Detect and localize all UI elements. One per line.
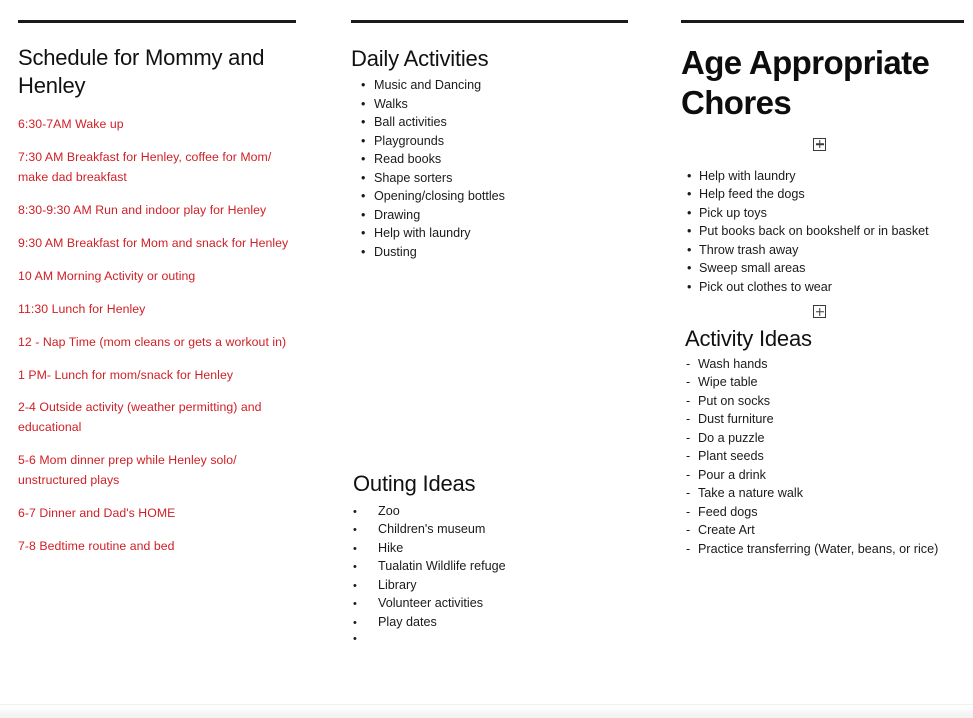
list-item-label: Drawing bbox=[374, 206, 648, 225]
list-item: -Put on socks bbox=[686, 392, 958, 411]
schedule-list: 6:30-7AM Wake up 7:30 AM Breakfast for H… bbox=[18, 115, 305, 557]
bullet-dot-icon: • bbox=[361, 76, 374, 95]
list-item-label: Plant seeds bbox=[698, 447, 958, 466]
list-item: •Help with laundry bbox=[687, 167, 958, 186]
list-item-label: Help feed the dogs bbox=[699, 185, 958, 204]
list-item-label: Ball activities bbox=[374, 113, 648, 132]
list-item-label: Wipe table bbox=[698, 373, 958, 392]
list-item-label: Pick out clothes to wear bbox=[699, 278, 958, 297]
list-item-label: Take a nature walk bbox=[698, 484, 958, 503]
list-item: •Help feed the dogs bbox=[687, 185, 958, 204]
list-item: •Hike bbox=[353, 539, 648, 558]
schedule-item: 9:30 AM Breakfast for Mom and snack for … bbox=[18, 234, 305, 254]
list-item: •Dusting bbox=[361, 243, 648, 262]
bullet-dash-icon: - bbox=[686, 466, 698, 485]
bullet-dot-icon: • bbox=[687, 259, 699, 278]
bullet-dot-icon: • bbox=[353, 615, 378, 631]
bullet-dot-icon: • bbox=[353, 541, 378, 557]
page-title-schedule: Schedule for Mommy and Henley bbox=[18, 44, 305, 100]
list-item: •Children's museum bbox=[353, 520, 648, 539]
bullet-dot-icon: • bbox=[353, 504, 378, 520]
bullet-dash-icon: - bbox=[686, 521, 698, 540]
three-column-layout: Schedule for Mommy and Henley 6:30-7AM W… bbox=[0, 0, 973, 704]
list-item: -Practice transferring (Water, beans, or… bbox=[686, 540, 958, 559]
schedule-item: 1 PM- Lunch for mom/snack for Henley bbox=[18, 366, 305, 386]
bullet-dash-icon: - bbox=[686, 429, 698, 448]
document-page: Schedule for Mommy and Henley 6:30-7AM W… bbox=[0, 0, 973, 718]
list-item: •Put books back on bookshelf or in baske… bbox=[687, 222, 958, 241]
list-item-label: Read books bbox=[374, 150, 648, 169]
bullet-dash-icon: - bbox=[686, 392, 698, 411]
section-title-activity-ideas: Activity Ideas bbox=[685, 325, 958, 353]
column-chores: Age Appropriate Chores •Help with laundr… bbox=[666, 0, 973, 704]
bullet-dot-icon: • bbox=[361, 169, 374, 188]
list-item-label: Shape sorters bbox=[374, 169, 648, 188]
list-item-label: Zoo bbox=[378, 502, 648, 521]
bullet-dot-icon: • bbox=[361, 150, 374, 169]
bullet-dash-icon: - bbox=[686, 484, 698, 503]
bullet-dot-icon: • bbox=[361, 113, 374, 132]
bullet-dot-icon: • bbox=[353, 522, 378, 538]
list-item: •Throw trash away bbox=[687, 241, 958, 260]
schedule-item: 8:30-9:30 AM Run and indoor play for Hen… bbox=[18, 201, 305, 221]
list-item-label: Wash hands bbox=[698, 355, 958, 374]
list-item: •Tualatin Wildlife refuge bbox=[353, 557, 648, 576]
list-item-label: Volunteer activities bbox=[378, 594, 648, 613]
outing-ideas-block: Outing Ideas •Zoo •Children's museum •Hi… bbox=[347, 470, 648, 647]
list-item-label: Put books back on bookshelf or in basket bbox=[699, 222, 958, 241]
schedule-item: 6-7 Dinner and Dad's HOME bbox=[18, 504, 305, 524]
list-item: •Zoo bbox=[353, 502, 648, 521]
schedule-item: 12 - Nap Time (mom cleans or gets a work… bbox=[18, 333, 305, 353]
list-item-label: Do a puzzle bbox=[698, 429, 958, 448]
chores-list: •Help with laundry •Help feed the dogs •… bbox=[687, 167, 958, 297]
list-item-label: Sweep small areas bbox=[699, 259, 958, 278]
schedule-item: 7-8 Bedtime routine and bed bbox=[18, 537, 305, 557]
list-item: -Plant seeds bbox=[686, 447, 958, 466]
bullet-dot-icon: • bbox=[361, 224, 374, 243]
daily-activities-list: •Music and Dancing •Walks •Ball activiti… bbox=[361, 76, 648, 261]
bullet-dot-icon: • bbox=[687, 185, 699, 204]
image-placeholder-top bbox=[681, 138, 958, 151]
list-item: -Feed dogs bbox=[686, 503, 958, 522]
list-item: -Do a puzzle bbox=[686, 429, 958, 448]
list-item: •Sweep small areas bbox=[687, 259, 958, 278]
list-item-label: Library bbox=[378, 576, 648, 595]
list-item-label: Put on socks bbox=[698, 392, 958, 411]
bullet-dot-icon: • bbox=[361, 132, 374, 151]
bullet-dot-icon: • bbox=[353, 631, 378, 647]
list-item: -Create Art bbox=[686, 521, 958, 540]
bullet-dash-icon: - bbox=[686, 503, 698, 522]
list-item: •Pick up toys bbox=[687, 204, 958, 223]
list-item: •Help with laundry bbox=[361, 224, 648, 243]
list-item-label: Practice transferring (Water, beans, or … bbox=[698, 540, 958, 559]
list-item: •Pick out clothes to wear bbox=[687, 278, 958, 297]
section-title-age-appropriate-chores: Age Appropriate Chores bbox=[681, 43, 958, 124]
bullet-dot-icon: • bbox=[353, 559, 378, 575]
list-item-label: Pour a drink bbox=[698, 466, 958, 485]
page-bottom-edge bbox=[0, 704, 973, 718]
bullet-dot-icon: • bbox=[687, 204, 699, 223]
list-item-label: Dust furniture bbox=[698, 410, 958, 429]
divider-rule-right bbox=[681, 20, 964, 23]
list-item: -Pour a drink bbox=[686, 466, 958, 485]
list-item: •Shape sorters bbox=[361, 169, 648, 188]
bullet-dot-icon: • bbox=[687, 222, 699, 241]
column-schedule: Schedule for Mommy and Henley 6:30-7AM W… bbox=[0, 0, 333, 704]
list-item: •Read books bbox=[361, 150, 648, 169]
list-item: -Take a nature walk bbox=[686, 484, 958, 503]
list-item-label: Music and Dancing bbox=[374, 76, 648, 95]
list-item: •Playgrounds bbox=[361, 132, 648, 151]
section-title-outing-ideas: Outing Ideas bbox=[353, 470, 648, 498]
list-item: •Drawing bbox=[361, 206, 648, 225]
column-activities: Daily Activities •Music and Dancing •Wal… bbox=[333, 0, 666, 704]
section-title-daily-activities: Daily Activities bbox=[351, 45, 648, 73]
list-item: •Library bbox=[353, 576, 648, 595]
bullet-dot-icon: • bbox=[687, 241, 699, 260]
bullet-dot-icon: • bbox=[361, 243, 374, 262]
list-item-label: Playgrounds bbox=[374, 132, 648, 151]
schedule-item: 2-4 Outside activity (weather permitting… bbox=[18, 398, 305, 438]
list-item-label: Help with laundry bbox=[699, 167, 958, 186]
list-item: •Play dates bbox=[353, 613, 648, 632]
bullet-dash-icon: - bbox=[686, 410, 698, 429]
list-item: -Dust furniture bbox=[686, 410, 958, 429]
list-item-label: Throw trash away bbox=[699, 241, 958, 260]
boxed-plus-icon bbox=[813, 138, 826, 151]
list-item-label: Tualatin Wildlife refuge bbox=[378, 557, 648, 576]
list-item: -Wash hands bbox=[686, 355, 958, 374]
list-item: •Music and Dancing bbox=[361, 76, 648, 95]
image-placeholder-bottom bbox=[681, 305, 958, 318]
bullet-dash-icon: - bbox=[686, 373, 698, 392]
bullet-dot-icon: • bbox=[353, 596, 378, 612]
bullet-dash-icon: - bbox=[686, 355, 698, 374]
list-item-label: Create Art bbox=[698, 521, 958, 540]
schedule-item: 5-6 Mom dinner prep while Henley solo/ u… bbox=[18, 451, 305, 491]
bullet-dot-icon: • bbox=[687, 167, 699, 186]
list-item-label: Feed dogs bbox=[698, 503, 958, 522]
divider-rule-middle bbox=[351, 20, 628, 23]
bullet-dot-icon: • bbox=[687, 278, 699, 297]
list-item-label: Play dates bbox=[378, 613, 648, 632]
list-item: -Wipe table bbox=[686, 373, 958, 392]
bullet-dot-icon: • bbox=[353, 578, 378, 594]
outing-ideas-list: •Zoo •Children's museum •Hike •Tualatin … bbox=[353, 502, 648, 648]
bullet-dash-icon: - bbox=[686, 540, 698, 559]
list-item: •Opening/closing bottles bbox=[361, 187, 648, 206]
divider-rule-left bbox=[18, 20, 296, 23]
list-item-label: Hike bbox=[378, 539, 648, 558]
list-item-label: Pick up toys bbox=[699, 204, 958, 223]
list-item-label: Dusting bbox=[374, 243, 648, 262]
list-item: •Ball activities bbox=[361, 113, 648, 132]
schedule-item: 6:30-7AM Wake up bbox=[18, 115, 305, 135]
list-item-label: Opening/closing bottles bbox=[374, 187, 648, 206]
schedule-item: 7:30 AM Breakfast for Henley, coffee for… bbox=[18, 148, 305, 188]
schedule-item: 11:30 Lunch for Henley bbox=[18, 300, 305, 320]
bullet-dot-icon: • bbox=[361, 206, 374, 225]
bullet-dot-icon: • bbox=[361, 95, 374, 114]
bullet-dot-icon: • bbox=[361, 187, 374, 206]
list-item-label: Walks bbox=[374, 95, 648, 114]
boxed-plus-icon bbox=[813, 305, 826, 318]
schedule-item: 10 AM Morning Activity or outing bbox=[18, 267, 305, 287]
list-item-empty: • bbox=[353, 631, 648, 647]
list-item: •Walks bbox=[361, 95, 648, 114]
list-item-label: Help with laundry bbox=[374, 224, 648, 243]
activity-ideas-list: -Wash hands -Wipe table -Put on socks -D… bbox=[686, 355, 958, 559]
list-item-label: Children's museum bbox=[378, 520, 648, 539]
list-item: •Volunteer activities bbox=[353, 594, 648, 613]
bullet-dash-icon: - bbox=[686, 447, 698, 466]
